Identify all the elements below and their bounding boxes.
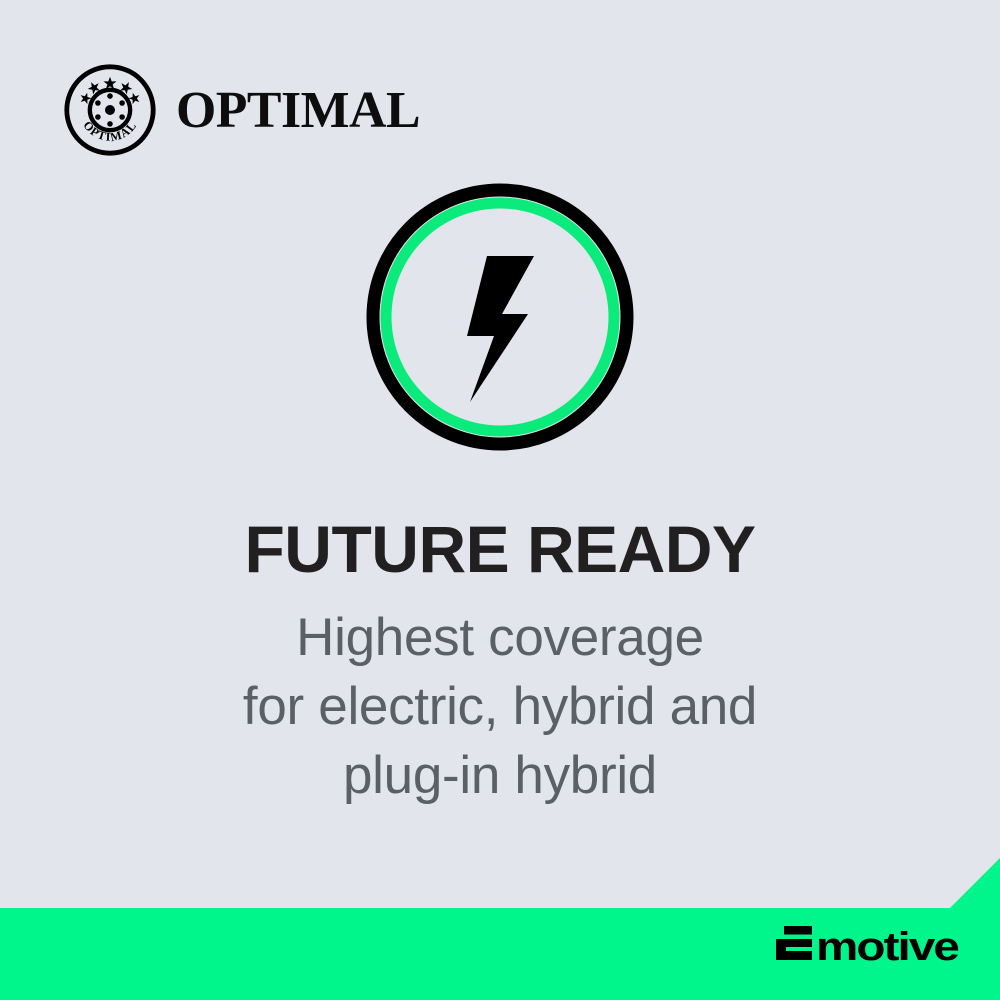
subtitle-line-3: plug-in hybrid — [0, 742, 1000, 811]
subtitle-line-1: Highest coverage — [0, 604, 1000, 673]
lightning-bolt-in-circle-icon — [366, 176, 634, 458]
brand-header: OPTIMAL OPTIMAL — [62, 62, 422, 158]
emotive-wordmark-icon: motive — [776, 926, 960, 970]
optimal-wordmark: OPTIMAL — [176, 81, 422, 139]
page-subtitle: Highest coverage for electric, hybrid an… — [0, 582, 1000, 811]
bolt-glyph — [467, 256, 534, 402]
optimal-seal-icon: OPTIMAL — [62, 62, 158, 158]
copy-block: FUTURE READY Highest coverage for electr… — [0, 516, 1000, 811]
subtitle-line-2: for electric, hybrid and — [0, 673, 1000, 742]
footer-banner: motive — [0, 858, 1000, 1000]
emotive-wordmark-text: motive — [816, 926, 958, 969]
hero-emblem — [366, 176, 634, 458]
optimal-wordmark-text: OPTIMAL — [176, 82, 420, 139]
poster-canvas: OPTIMAL OPTIMAL FUTURE READY Highest cov… — [0, 0, 1000, 1000]
page-title: FUTURE READY — [0, 516, 1000, 582]
